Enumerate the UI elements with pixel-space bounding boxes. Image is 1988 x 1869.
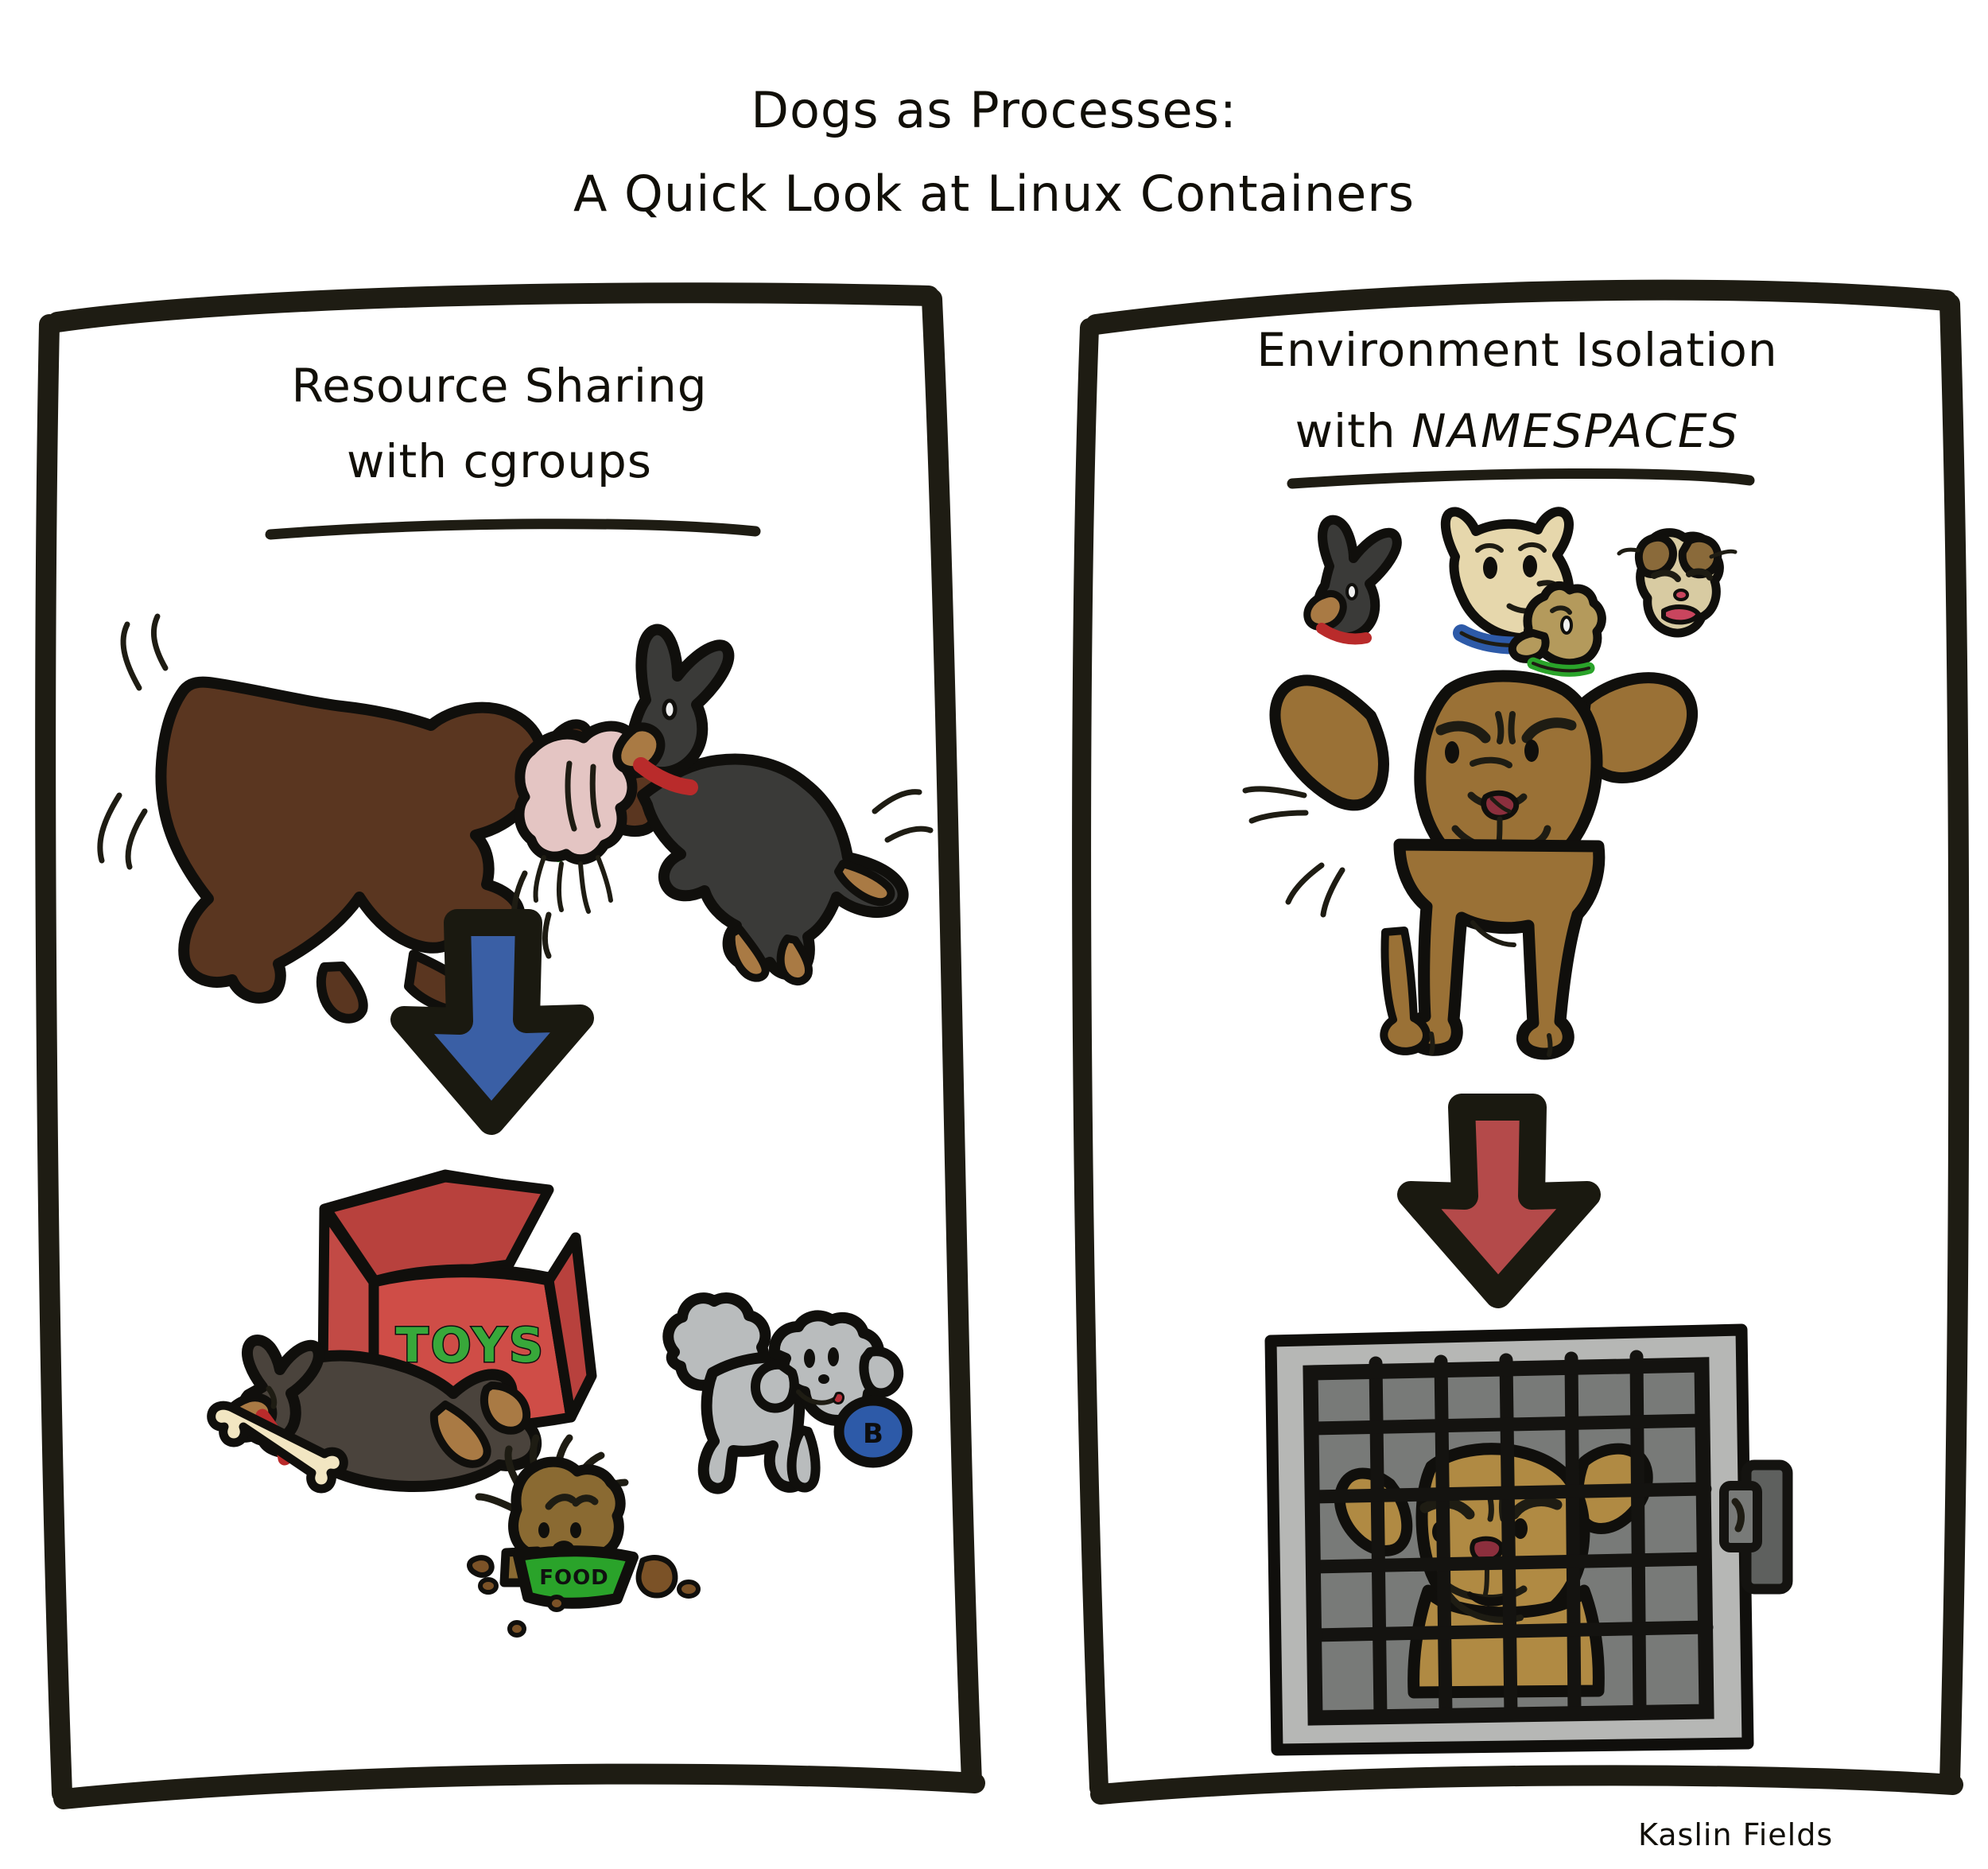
cgroups-heading-underline — [270, 524, 755, 534]
tail-motion-lines — [1245, 789, 1342, 915]
comic-svg: Dogs as Processes: A Quick Look at Linux… — [0, 0, 1988, 1869]
shared-resources-scene: TOYS — [212, 1175, 907, 1635]
cgroups-heading-line-2: with cgroups — [347, 434, 652, 488]
grumpy-brown-dog — [1245, 676, 1692, 1055]
namespaces-heading-line-2: with NAMESPACES — [1295, 404, 1740, 458]
namespaces-heading-emphasis: NAMESPACES — [1411, 404, 1739, 458]
namespaces-heading-line-1: Environment Isolation — [1256, 323, 1777, 377]
artist-signature: Kaslin Fields — [1638, 1817, 1833, 1852]
pug-head — [1619, 533, 1735, 633]
food-bowl-label: FOOD — [539, 1566, 609, 1590]
title-line-1: Dogs as Processes: — [751, 81, 1237, 139]
ball-label: B — [863, 1418, 883, 1450]
grumpy-dog-with-peers-scene — [1245, 511, 1735, 1055]
illustration-canvas: Dogs as Processes: A Quick Look at Linux… — [0, 0, 1988, 1869]
namespaces-heading-underline — [1292, 473, 1749, 484]
toy-box-label: TOYS — [396, 1318, 546, 1374]
motion-lines-left — [100, 616, 165, 867]
food-bowl: FOOD — [518, 1551, 633, 1603]
motion-lines-right — [875, 792, 930, 840]
kennel-scene — [1271, 1330, 1788, 1750]
cgroups-heading-line-1: Resource Sharing — [291, 359, 707, 413]
red-down-arrow — [1411, 1107, 1587, 1295]
doberman-head — [1307, 520, 1397, 639]
blue-ball: B — [839, 1401, 907, 1463]
title-line-2: A Quick Look at Linux Containers — [573, 165, 1415, 223]
namespaces-heading-prefix: with — [1295, 404, 1412, 458]
doberman-tugging — [617, 630, 903, 981]
